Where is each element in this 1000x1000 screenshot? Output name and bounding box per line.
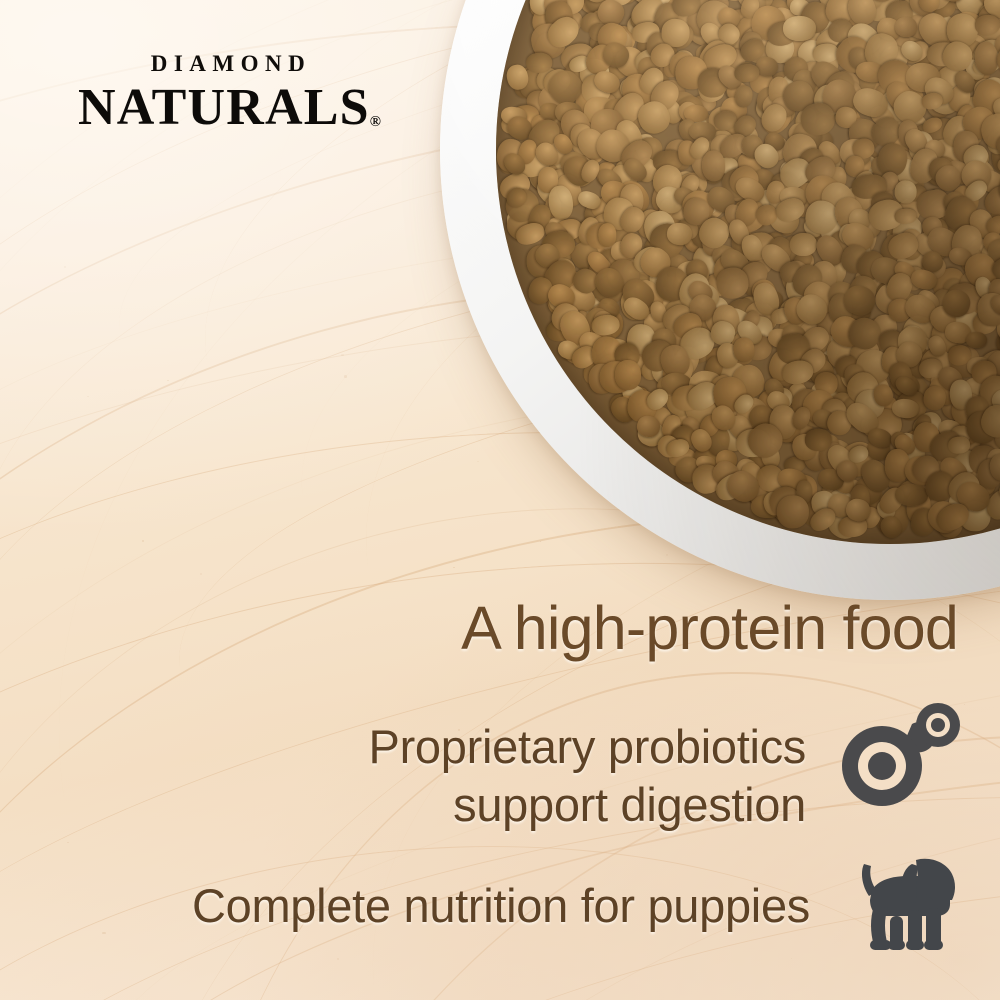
brand-logo: DIAMOND NATURALS® — [78, 52, 378, 136]
benefit-probiotics-line-1: Proprietary probiotics — [0, 718, 806, 776]
headline: A high-protein food — [0, 598, 958, 659]
brand-name-top: DIAMOND — [78, 52, 378, 75]
puppy-silhouette-icon — [838, 846, 970, 958]
probiotic-cell-icon — [838, 698, 966, 810]
benefit-probiotics: Proprietary probiotics support digestion — [0, 718, 806, 834]
benefit-probiotics-line-2: support digestion — [0, 776, 806, 834]
benefit-puppies: Complete nutrition for puppies — [0, 880, 810, 932]
brand-name-main: NATURALS® — [78, 80, 378, 136]
registered-trademark-icon: ® — [370, 114, 381, 130]
brand-name-main-text: NATURALS — [78, 79, 370, 136]
promo-image-canvas: DIAMOND NATURALS® A high-protein food Pr… — [0, 0, 1000, 1000]
